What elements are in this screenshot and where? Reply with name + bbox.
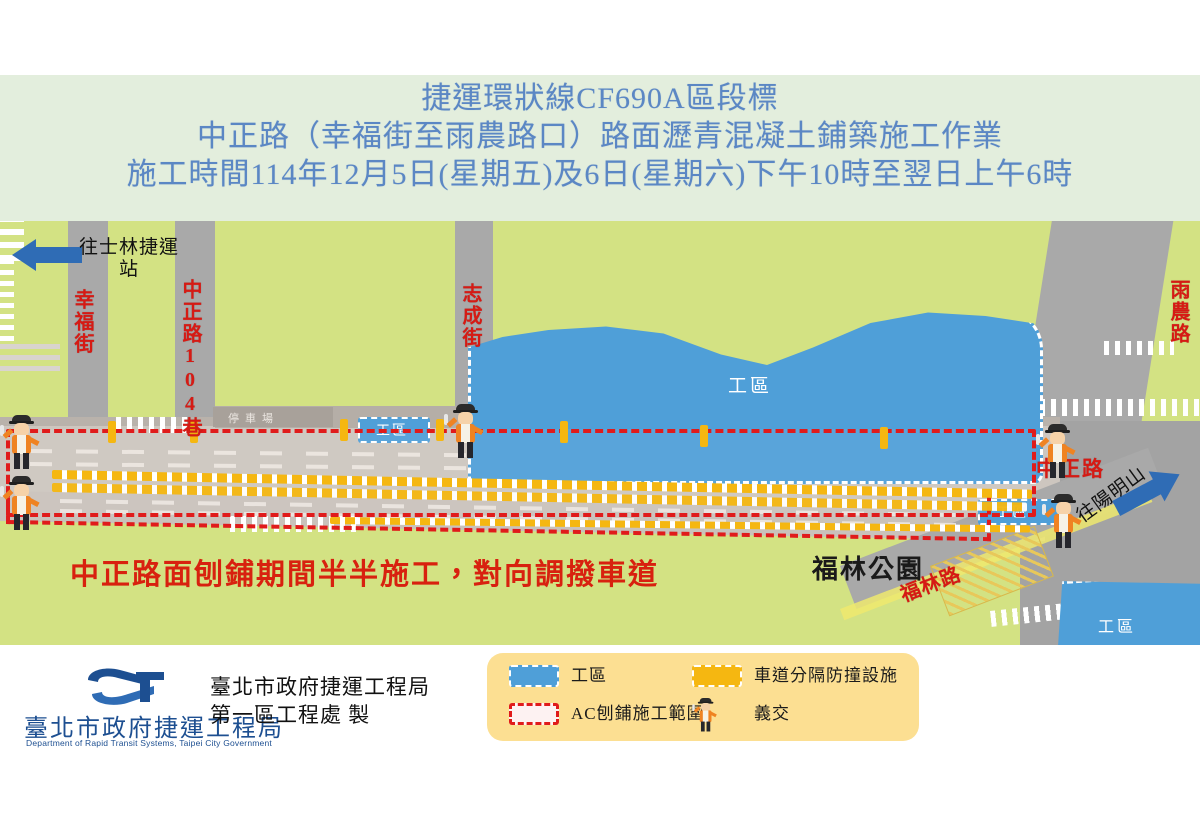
crosswalk bbox=[1104, 341, 1174, 355]
legend-label-marshal: 義交 bbox=[754, 701, 790, 727]
notice-page: 捷運環狀線CF690A區段標 中正路（幸福街至雨農路口）路面瀝青混凝土鋪築施工作… bbox=[0, 0, 1200, 830]
direction-label-shilin: 往士林捷運站 bbox=[75, 237, 183, 282]
agency-logo-en: Department of Rapid Transit Systems, Tai… bbox=[26, 738, 272, 748]
header-text-block: 捷運環狀線CF690A區段標 中正路（幸福街至雨農路口）路面瀝青混凝土鋪築施工作… bbox=[0, 75, 1200, 190]
traffic-marshal-icon bbox=[450, 404, 480, 460]
crash-barrier-stub bbox=[560, 421, 568, 443]
crosswalk bbox=[1040, 399, 1200, 416]
traffic-marshal-icon bbox=[696, 698, 715, 736]
street-label-xingfu: 幸福街 bbox=[72, 289, 92, 355]
traffic-marshal-icon bbox=[6, 415, 36, 471]
legend-label-milling: AC刨鋪施工範圍 bbox=[571, 701, 705, 727]
workzone-swatch-icon bbox=[509, 665, 559, 687]
header-band: 捷運環狀線CF690A區段標 中正路（幸福街至雨農路口）路面瀝青混凝土鋪築施工作… bbox=[0, 75, 1200, 221]
arrow-head bbox=[12, 239, 36, 271]
barrier-swatch-icon bbox=[692, 665, 742, 687]
crosswalk bbox=[0, 341, 60, 371]
map-legend: 工區 AC刨鋪施工範圍 車道分隔防撞設施 義交 bbox=[487, 653, 919, 741]
drts-logo-icon bbox=[80, 664, 170, 708]
crash-barrier-stub bbox=[880, 427, 888, 449]
street-label-zhicheng: 志成街 bbox=[460, 283, 480, 349]
credit-line-1: 臺北市政府捷運工程局 bbox=[210, 673, 430, 701]
street-label-zhongzheng-lane-104: 中正路104巷 bbox=[180, 279, 200, 439]
parking-lot-label: 停車場 bbox=[228, 410, 279, 426]
header-line-scope: 中正路（幸福街至雨農路口）路面瀝青混凝土鋪築施工作業 bbox=[0, 121, 1200, 153]
crash-barrier-stub bbox=[340, 419, 348, 441]
footer: 臺北市政府捷運工程局 Department of Rapid Transit S… bbox=[0, 645, 1200, 830]
site-map: 停車場 工區 工區 工區 工區 bbox=[0, 221, 1200, 645]
crash-barrier-stub bbox=[700, 425, 708, 447]
traffic-marshal-icon bbox=[6, 476, 36, 532]
header-line-schedule: 施工時間114年12月5日(星期五)及6日(星期六)下午10時至翌日上午6時 bbox=[0, 159, 1200, 191]
crash-barrier-stub bbox=[436, 419, 444, 441]
construction-notice-text: 中正路面刨鋪期間半半施工，對向調撥車道 bbox=[70, 551, 659, 593]
crash-barrier-stub bbox=[108, 421, 116, 443]
traffic-marshal-icon bbox=[1042, 424, 1072, 480]
issuing-office-credit: 臺北市政府捷運工程局 第一區工程處 製 bbox=[210, 673, 430, 730]
traffic-marshal-icon bbox=[1048, 494, 1078, 550]
crosswalk bbox=[0, 261, 14, 341]
credit-line-2: 第一區工程處 製 bbox=[210, 701, 430, 729]
milling-swatch-icon bbox=[509, 703, 559, 725]
street-label-yunong: 雨農路 bbox=[1168, 279, 1188, 345]
legend-label-barrier: 車道分隔防撞設施 bbox=[754, 663, 898, 689]
park-label-fulin: 福林公園 bbox=[812, 549, 924, 586]
legend-label-workzone: 工區 bbox=[571, 663, 607, 689]
header-line-project: 捷運環狀線CF690A區段標 bbox=[0, 83, 1200, 115]
